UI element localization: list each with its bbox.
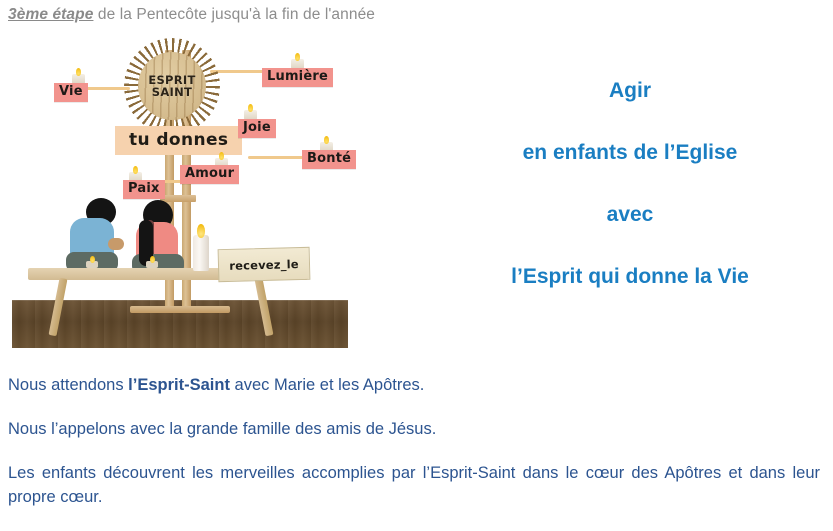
string-to-bonte bbox=[248, 156, 306, 159]
paschal-candle bbox=[193, 235, 209, 271]
headline-line-1: Agir bbox=[430, 80, 830, 101]
paragraph-1-after: avec Marie et les Apôtres. bbox=[230, 376, 424, 394]
paragraph-1-before: Nous attendons bbox=[8, 376, 128, 394]
catechism-illustration: ESPRIT SAINT tu donnes Vie Lumière Joie … bbox=[10, 30, 348, 350]
tag-vie: Vie bbox=[54, 83, 88, 102]
sign-recevez-le: recevez_le bbox=[218, 247, 311, 282]
banner-tu-donnes: tu donnes bbox=[115, 126, 242, 155]
headline-line-4: l’Esprit qui donne la Vie bbox=[430, 266, 830, 287]
stage-description: de la Pentecôte jusqu'à la fin de l'anné… bbox=[93, 6, 375, 23]
tealight-right bbox=[146, 261, 158, 268]
body-paragraphs: Nous attendons l’Esprit-Saint avec Marie… bbox=[8, 375, 820, 510]
tag-paix: Paix bbox=[123, 180, 165, 199]
paragraph-3: Les enfants découvrent les merveilles ac… bbox=[8, 462, 820, 510]
easel-foot bbox=[130, 306, 230, 313]
paragraph-1-bold: l’Esprit-Saint bbox=[128, 376, 230, 394]
paragraph-2: Nous l’appelons avec la grande famille d… bbox=[8, 419, 820, 440]
stage-label: 3ème étape bbox=[8, 6, 93, 23]
paragraph-1: Nous attendons l’Esprit-Saint avec Marie… bbox=[8, 375, 820, 396]
headline-line-3: avec bbox=[430, 204, 830, 225]
tealight-left bbox=[86, 261, 98, 268]
sun-disc-line-2: SAINT bbox=[152, 85, 192, 99]
easel-crossbar bbox=[160, 195, 196, 202]
headline-block: Agir en enfants de l’Eglise avec l’Espri… bbox=[430, 80, 830, 287]
sun-disc: ESPRIT SAINT bbox=[138, 52, 206, 120]
tag-amour: Amour bbox=[180, 165, 239, 184]
headline-line-2: en enfants de l’Eglise bbox=[430, 142, 830, 163]
tag-joie: Joie bbox=[238, 119, 276, 138]
page-header-line: 3ème étape de la Pentecôte jusqu'à la fi… bbox=[8, 6, 375, 24]
sun-disc-text: ESPRIT SAINT bbox=[148, 74, 195, 98]
tag-lumiere: Lumière bbox=[262, 68, 333, 87]
holy-spirit-sun: ESPRIT SAINT bbox=[124, 38, 220, 134]
sign-recevez-le-text: recevez_le bbox=[229, 257, 299, 273]
illustration-scene: ESPRIT SAINT tu donnes Vie Lumière Joie … bbox=[10, 30, 348, 350]
child-left-hands bbox=[108, 238, 124, 250]
tag-bonte: Bonté bbox=[302, 150, 356, 169]
